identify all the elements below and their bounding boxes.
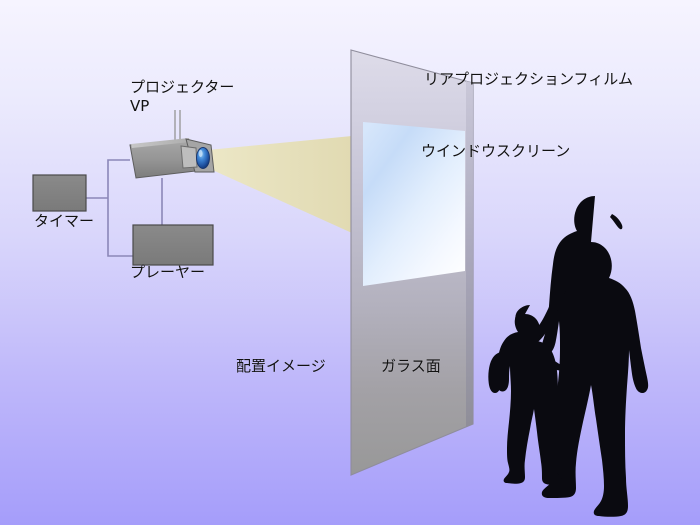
label-timer: タイマー — [34, 212, 94, 230]
label-layout-image: 配置イメージ — [236, 357, 326, 375]
projector-lens-recess — [181, 146, 197, 168]
projector-lens-icon — [197, 148, 210, 169]
timer-box[interactable] — [33, 175, 86, 211]
lens-highlight — [199, 150, 203, 157]
label-glass-surface: ガラス面 — [381, 357, 441, 375]
glass-panel — [351, 50, 473, 475]
label-rear-projection-film: リアプロジェクションフィルム — [424, 70, 633, 88]
label-window-screen: ウインドウスクリーン — [421, 142, 570, 160]
label-player: プレーヤー — [130, 263, 205, 281]
timer[interactable] — [33, 175, 86, 211]
player[interactable] — [133, 225, 213, 265]
diagram-canvas: プロジェクター VP タイマー プレーヤー リアプロジェクションフィルム ウイン… — [0, 0, 700, 525]
glass-panel-edge — [466, 81, 473, 427]
projector[interactable] — [130, 138, 214, 178]
label-projector: プロジェクター VP — [130, 78, 234, 116]
player-box[interactable] — [133, 225, 213, 265]
